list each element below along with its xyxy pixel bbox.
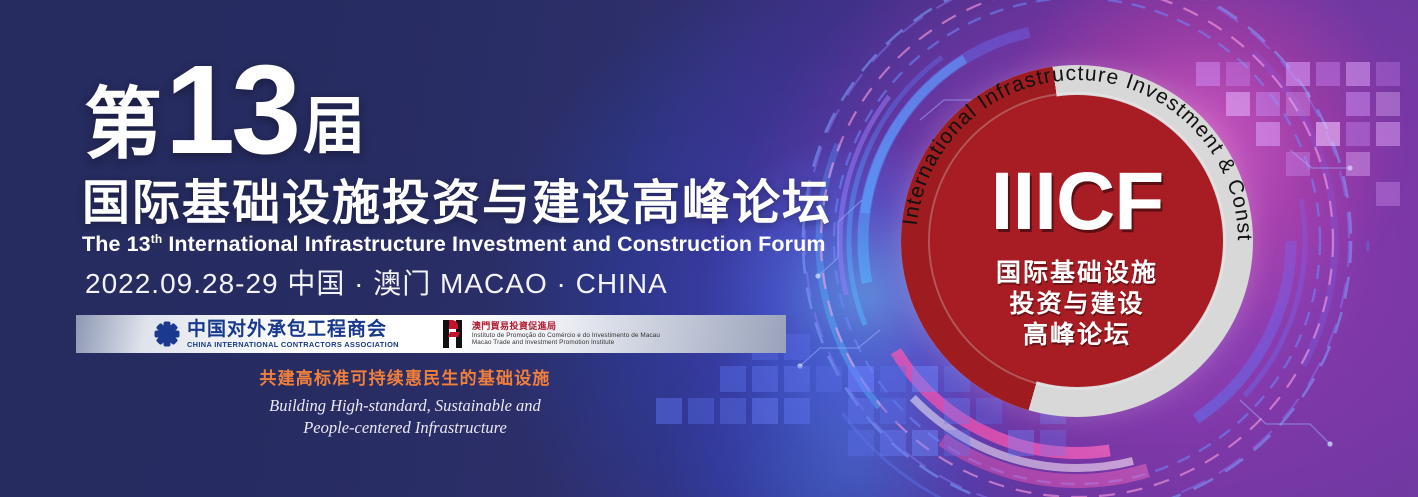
slogan-english-line2: People-centered Infrastructure — [185, 417, 625, 438]
event-banner: 第 13 届 国际基础设施投资与建设高峰论坛 The 13th Internat… — [0, 0, 1418, 497]
slogan-english-line1: Building High-standard, Sustainable and — [185, 395, 625, 416]
forum-title-english-pre: The 13 — [82, 232, 151, 256]
headline-block: 第 13 届 国际基础设施投资与建设高峰论坛 The 13th Internat… — [0, 0, 800, 497]
slogan-block: 共建高标准可持续惠民生的基础设施 Building High-standard,… — [185, 368, 625, 438]
logo-cica-name-cn: 中国对外承包工程商会 — [187, 320, 399, 339]
logo-ipim-name-cn: 澳門貿易投資促進局 — [472, 321, 660, 332]
edition-heading: 第 13 届 — [84, 58, 365, 161]
slogan-chinese: 共建高标准可持续惠民生的基础设施 — [185, 368, 625, 389]
ordinal-suffix: th — [151, 232, 163, 246]
logo-ipim-name-pt: Instituto de Promoção do Comércio e do I… — [472, 332, 660, 340]
logo-ipim-name-en: Macao Trade and Investment Promotion Ins… — [472, 339, 660, 347]
emblem-cn-line3: 高峰论坛 — [901, 321, 1253, 351]
emblem-cn-line1: 国际基础设施 — [901, 259, 1253, 289]
forum-title-english-post: International Infrastructure Investment … — [162, 232, 825, 256]
emblem-cn-line2: 投资与建设 — [901, 290, 1253, 320]
forum-title-chinese: 国际基础设施投资与建设高峰论坛 — [82, 180, 832, 228]
ipim-monogram-icon — [443, 320, 465, 348]
event-date-location: 2022.09.28-29 中国 · 澳门 MACAO · CHINA — [85, 262, 668, 302]
edition-number: 13 — [165, 58, 297, 161]
forum-title-english: The 13th International Infrastructure In… — [82, 232, 826, 257]
iiicf-emblem: International Infrastructure Investment … — [901, 65, 1253, 417]
snowflake-emblem-icon — [154, 321, 180, 347]
logo-cica-name-en: CHINA INTERNATIONAL CONTRACTORS ASSOCIAT… — [187, 341, 399, 348]
emblem-acronym: IIICF — [901, 161, 1253, 243]
logo-cica-text: 中国对外承包工程商会 CHINA INTERNATIONAL CONTRACTO… — [187, 320, 399, 348]
edition-suffix: 届 — [303, 98, 365, 157]
organizer-logo-bar: 中国对外承包工程商会 CHINA INTERNATIONAL CONTRACTO… — [76, 315, 786, 353]
logo-cica: 中国对外承包工程商会 CHINA INTERNATIONAL CONTRACTO… — [154, 320, 399, 348]
logo-ipim-text: 澳門貿易投資促進局 Instituto de Promoção do Comér… — [472, 321, 660, 347]
edition-prefix: 第 — [84, 87, 161, 161]
logo-ipim: 澳門貿易投資促進局 Instituto de Promoção do Comér… — [443, 320, 660, 348]
